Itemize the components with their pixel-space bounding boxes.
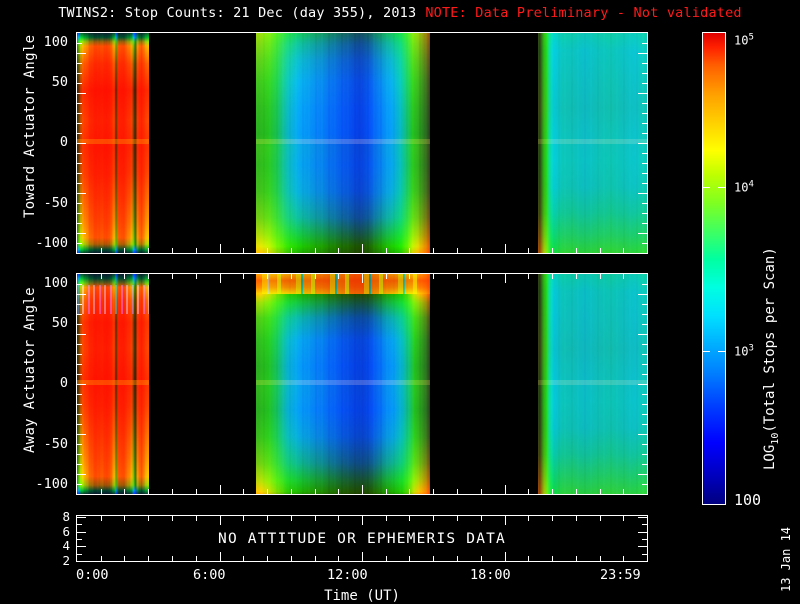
eph-ytick-minor-r xyxy=(642,539,647,540)
eph-ylabel-4: 4 xyxy=(40,538,70,553)
toward-xtick xyxy=(576,248,577,253)
eph-ytick-minor xyxy=(77,539,82,540)
toward-xtick xyxy=(291,248,292,253)
toward-ytick-minor-r xyxy=(642,83,647,84)
toward-ylabel-100: 100 xyxy=(8,34,68,50)
away-data-block-3 xyxy=(538,274,648,494)
eph-xtick-12 xyxy=(362,552,363,561)
toward-ylabel-neg100: -100 xyxy=(8,235,68,251)
xtick-label-0: 0:00 xyxy=(76,567,109,583)
toward-ytick-100-right xyxy=(638,53,647,54)
toward-ytick-minor-r xyxy=(642,63,647,64)
toward-ytick-minor xyxy=(77,63,82,64)
away-ytick-minor xyxy=(77,414,82,415)
eph-ytick-8-right xyxy=(638,517,647,518)
cb-1e5-base: 10 xyxy=(734,34,748,48)
away-xtick-top xyxy=(315,274,316,279)
eph-xtick xyxy=(101,556,102,561)
away-ytick-minor-r xyxy=(642,394,647,395)
toward-ytick-minor xyxy=(77,203,82,204)
eph-xtick xyxy=(196,556,197,561)
away-xtick xyxy=(433,489,434,494)
cb-1e3-base: 10 xyxy=(734,345,748,359)
away-xtick xyxy=(457,489,458,494)
eph-xtick-top xyxy=(148,516,149,521)
colorbar-title: LOG10(Total Stops per Scan) xyxy=(762,247,781,470)
away-xtick-top xyxy=(433,274,434,279)
away-data-block-2 xyxy=(256,274,430,494)
title-warning-text: NOTE: Data Preliminary - Not validated xyxy=(425,5,741,21)
away-ytick-minor xyxy=(77,314,82,315)
away-ytick-minor xyxy=(77,454,82,455)
toward-data-block-1 xyxy=(77,33,149,253)
away-xtick-top xyxy=(267,274,268,279)
eph-xtick-top-6 xyxy=(220,516,221,525)
toward-ytick-minor xyxy=(77,213,82,214)
toward-ytick-minor xyxy=(77,173,82,174)
colorbar-label-1e4: 104 xyxy=(734,180,754,195)
cb-1e4-exp: 4 xyxy=(748,180,753,190)
toward-xtick xyxy=(552,248,553,253)
eph-xtick xyxy=(243,556,244,561)
away-ylabel-50: 50 xyxy=(8,315,68,331)
away-ytick-neg100-right xyxy=(638,474,647,475)
toward-ytick-minor-r xyxy=(642,113,647,114)
away-ytick-50 xyxy=(77,334,86,335)
eph-xtick xyxy=(267,556,268,561)
away-ytick-minor-r xyxy=(642,404,647,405)
toward-ytick-minor-r xyxy=(642,213,647,214)
away-xtick-top xyxy=(101,274,102,279)
toward-xtick xyxy=(267,248,268,253)
toward-ytick-minor xyxy=(77,123,82,124)
toward-ytick-minor xyxy=(77,153,82,154)
eph-xtick xyxy=(481,556,482,561)
toward-xtick xyxy=(481,248,482,253)
eph-xtick xyxy=(148,556,149,561)
eph-xtick xyxy=(528,556,529,561)
eph-xtick-6 xyxy=(220,552,221,561)
away-ytick-minor xyxy=(77,404,82,405)
eph-ytick-4 xyxy=(77,546,86,547)
away-ytick-minor xyxy=(77,374,82,375)
away-xtick xyxy=(315,489,316,494)
eph-xtick xyxy=(576,556,577,561)
away-xtick-top xyxy=(600,274,601,279)
away-ytick-0-right xyxy=(638,384,647,385)
away-ytick-minor-r xyxy=(642,374,647,375)
xaxis-title: Time (UT) xyxy=(76,588,648,604)
eph-xtick xyxy=(457,556,458,561)
toward-data-block-2 xyxy=(256,33,430,253)
eph-xtick-top-12 xyxy=(362,516,363,525)
away-xtick xyxy=(481,489,482,494)
eph-xtick xyxy=(172,556,173,561)
eph-xtick xyxy=(315,556,316,561)
cb-title-base: LOG xyxy=(762,445,778,470)
cb-100-base: 100 xyxy=(734,491,761,509)
away-ytick-minor xyxy=(77,394,82,395)
away-ylabel-neg50: -50 xyxy=(8,436,68,452)
eph-xtick-top xyxy=(552,516,553,521)
away-ytick-0 xyxy=(77,384,86,385)
eph-xtick-top xyxy=(196,516,197,521)
colorbar-label-1e3: 103 xyxy=(734,344,754,359)
cb-1e3-exp: 3 xyxy=(748,344,753,354)
toward-xtick xyxy=(528,248,529,253)
away-xtick-top xyxy=(196,274,197,279)
away-xtick-top xyxy=(623,274,624,279)
eph-ytick-2-right xyxy=(638,561,647,562)
colorbar-label-100: 100 xyxy=(734,491,761,509)
toward-ytick-minor-r xyxy=(642,153,647,154)
away-ytick-minor xyxy=(77,464,82,465)
toward-ytick-minor-r xyxy=(642,43,647,44)
eph-xtick-top xyxy=(481,516,482,521)
eph-ytick-minor-r xyxy=(642,524,647,525)
toward-xtick xyxy=(409,248,410,253)
creation-date-stamp: 13 Jan 14 xyxy=(779,527,793,592)
eph-xtick-top xyxy=(315,516,316,521)
toward-ytick-minor xyxy=(77,113,82,114)
eph-ytick-8 xyxy=(77,517,86,518)
away-xtick-top xyxy=(528,274,529,279)
away-xtick xyxy=(196,489,197,494)
toward-ytick-minor-r xyxy=(642,223,647,224)
away-xtick xyxy=(386,489,387,494)
away-xtick xyxy=(600,489,601,494)
eph-xtick-top xyxy=(386,516,387,521)
away-ytick-minor-r xyxy=(642,344,647,345)
away-xtick-top xyxy=(172,274,173,279)
toward-xtick-18 xyxy=(505,244,506,253)
xtick-label-18: 18:00 xyxy=(470,567,511,583)
away-xtick-top xyxy=(576,274,577,279)
toward-ytick-minor xyxy=(77,223,82,224)
eph-xtick-top-18 xyxy=(505,516,506,525)
eph-ytick-minor xyxy=(77,554,82,555)
toward-ytick-50-right xyxy=(638,93,647,94)
away-xtick-top xyxy=(291,274,292,279)
toward-ytick-50 xyxy=(77,93,86,94)
toward-ytick-minor-r xyxy=(642,173,647,174)
toward-ytick-100 xyxy=(77,53,86,54)
toward-ytick-0 xyxy=(77,143,86,144)
toward-ytick-0-right xyxy=(638,143,647,144)
toward-xtick xyxy=(172,248,173,253)
away-ytick-50-right xyxy=(638,334,647,335)
toward-ytick-minor-r xyxy=(642,123,647,124)
eph-xtick xyxy=(124,556,125,561)
eph-xtick-top xyxy=(600,516,601,521)
away-ylabel-100: 100 xyxy=(8,275,68,291)
away-ytick-neg50 xyxy=(77,434,86,435)
plot-title: TWINS2: Stop Counts: 21 Dec (day 355), 2… xyxy=(0,5,800,25)
eph-xtick-top xyxy=(101,516,102,521)
away-ytick-minor xyxy=(77,364,82,365)
away-xtick-top xyxy=(124,274,125,279)
eph-ylabel-2: 2 xyxy=(40,553,70,568)
ephemeris-inner: NO ATTITUDE OR EPHEMERIS DATA xyxy=(77,516,647,561)
away-xtick-18 xyxy=(505,485,506,494)
toward-xtick xyxy=(101,248,102,253)
eph-xtick xyxy=(623,556,624,561)
away-ytick-minor xyxy=(77,304,82,305)
away-ytick-minor-r xyxy=(642,444,647,445)
away-xtick xyxy=(338,489,339,494)
eph-xtick xyxy=(338,556,339,561)
xtick-label-12: 12:00 xyxy=(327,567,368,583)
plot-canvas: TWINS2: Stop Counts: 21 Dec (day 355), 2… xyxy=(0,0,800,600)
away-xtick xyxy=(623,489,624,494)
panel-ephemeris: NO ATTITUDE OR EPHEMERIS DATA xyxy=(76,515,648,562)
toward-xtick xyxy=(623,248,624,253)
eph-xtick-top xyxy=(124,516,125,521)
eph-ytick-6 xyxy=(77,532,86,533)
toward-ylabel-neg50: -50 xyxy=(8,195,68,211)
away-xtick-12 xyxy=(362,485,363,494)
away-ytick-minor-r xyxy=(642,304,647,305)
cb-title-sub: 10 xyxy=(770,433,781,445)
away-xtick xyxy=(243,489,244,494)
away-ytick-minor xyxy=(77,344,82,345)
eph-xtick-18 xyxy=(505,552,506,561)
toward-ylabel-0: 0 xyxy=(8,134,68,150)
away-ytick-minor-r xyxy=(642,484,647,485)
away-ytick-minor-r xyxy=(642,464,647,465)
away-ytick-minor xyxy=(77,444,82,445)
eph-xtick-top xyxy=(267,516,268,521)
away-xtick xyxy=(409,489,410,494)
away-xtick xyxy=(148,489,149,494)
toward-ytick-minor-r xyxy=(642,203,647,204)
away-xtick-6 xyxy=(220,485,221,494)
away-xtick-top-12 xyxy=(362,274,363,283)
toward-ytick-minor xyxy=(77,43,82,44)
toward-spectrogram xyxy=(77,33,647,253)
eph-xtick xyxy=(552,556,553,561)
toward-ytick-minor-r xyxy=(642,133,647,134)
away-xtick xyxy=(576,489,577,494)
away-ytick-minor-r xyxy=(642,414,647,415)
away-xtick-top xyxy=(409,274,410,279)
away-ylabel-0: 0 xyxy=(8,375,68,391)
eph-xtick-top xyxy=(338,516,339,521)
eph-ytick-minor-r xyxy=(642,554,647,555)
toward-xtick xyxy=(196,248,197,253)
eph-xtick xyxy=(600,556,601,561)
away-ytick-minor-r xyxy=(642,424,647,425)
away-ytick-minor-r xyxy=(642,364,647,365)
colorbar-tick-1e3 xyxy=(702,351,710,352)
toward-ytick-minor xyxy=(77,243,82,244)
away-xtick-top xyxy=(386,274,387,279)
toward-ylabel-50: 50 xyxy=(8,74,68,90)
away-axis-title: Away Actuator Angle xyxy=(22,287,38,453)
away-xtick-top-18 xyxy=(505,274,506,283)
away-spectrogram xyxy=(77,274,647,494)
away-ytick-minor-r xyxy=(642,284,647,285)
away-xtick xyxy=(101,489,102,494)
eph-xtick xyxy=(291,556,292,561)
eph-ylabel-8: 8 xyxy=(40,509,70,524)
colorbar-tick-1e3-right xyxy=(718,351,726,352)
away-ytick-minor-r xyxy=(642,454,647,455)
panel-away-actuator xyxy=(76,273,648,495)
toward-xtick xyxy=(457,248,458,253)
eph-ytick-2 xyxy=(77,561,86,562)
away-ytick-minor xyxy=(77,484,82,485)
away-xtick-top xyxy=(552,274,553,279)
away-ytick-100-right xyxy=(638,294,647,295)
toward-xtick xyxy=(338,248,339,253)
away-ytick-minor-r xyxy=(642,354,647,355)
xtick-label-6: 6:00 xyxy=(193,567,226,583)
away-data-block-1 xyxy=(77,274,149,494)
toward-ytick-minor-r xyxy=(642,73,647,74)
colorbar-tick-1e4 xyxy=(702,187,710,188)
away-xtick-top xyxy=(457,274,458,279)
eph-xtick-top xyxy=(172,516,173,521)
toward-ytick-minor xyxy=(77,83,82,84)
toward-ytick-neg50 xyxy=(77,193,86,194)
toward-ytick-minor xyxy=(77,73,82,74)
away-ytick-neg50-right xyxy=(638,434,647,435)
eph-xtick-top xyxy=(623,516,624,521)
away-xtick xyxy=(528,489,529,494)
toward-xtick-6 xyxy=(220,244,221,253)
away-ytick-neg100 xyxy=(77,474,86,475)
colorbar: 105 104 103 100 xyxy=(702,32,726,505)
eph-xtick xyxy=(386,556,387,561)
eph-xtick xyxy=(409,556,410,561)
away-xtick-top xyxy=(243,274,244,279)
toward-xtick xyxy=(600,248,601,253)
toward-ytick-neg100-right xyxy=(638,233,647,234)
toward-ytick-minor-r xyxy=(642,243,647,244)
title-main-text: TWINS2: Stop Counts: 21 Dec (day 355), 2… xyxy=(58,5,416,21)
away-xtick-top xyxy=(481,274,482,279)
toward-xtick xyxy=(386,248,387,253)
eph-ytick-6-right xyxy=(638,532,647,533)
away-xtick-top-6 xyxy=(220,274,221,283)
toward-ytick-minor-r xyxy=(642,183,647,184)
colorbar-label-1e5: 105 xyxy=(734,33,754,48)
eph-xtick-top xyxy=(291,516,292,521)
eph-ytick-4-right xyxy=(638,546,647,547)
toward-ytick-minor xyxy=(77,163,82,164)
eph-xtick-top xyxy=(433,516,434,521)
away-xtick-top xyxy=(338,274,339,279)
toward-xtick xyxy=(243,248,244,253)
away-xtick xyxy=(552,489,553,494)
toward-xtick xyxy=(124,248,125,253)
toward-ytick-minor-r xyxy=(642,163,647,164)
away-ytick-minor xyxy=(77,284,82,285)
away-ytick-minor xyxy=(77,354,82,355)
away-xtick xyxy=(124,489,125,494)
cb-title-rest: (Total Stops per Scan) xyxy=(762,247,778,432)
toward-xtick-12 xyxy=(362,244,363,253)
away-ytick-100 xyxy=(77,294,86,295)
away-ytick-minor-r xyxy=(642,324,647,325)
eph-xtick xyxy=(433,556,434,561)
away-ytick-minor xyxy=(77,324,82,325)
eph-xtick-top xyxy=(457,516,458,521)
toward-data-block-3 xyxy=(538,33,648,253)
eph-xtick-top xyxy=(528,516,529,521)
toward-ytick-minor-r xyxy=(642,103,647,104)
xtick-label-2359: 23:59 xyxy=(600,567,641,583)
away-xtick xyxy=(291,489,292,494)
cb-1e5-exp: 5 xyxy=(748,33,753,43)
toward-ytick-minor xyxy=(77,133,82,134)
eph-xtick-top xyxy=(576,516,577,521)
away-xtick xyxy=(172,489,173,494)
toward-ytick-minor xyxy=(77,103,82,104)
toward-ytick-minor xyxy=(77,183,82,184)
cb-1e4-base: 10 xyxy=(734,181,748,195)
eph-xtick-top xyxy=(243,516,244,521)
toward-xtick xyxy=(315,248,316,253)
away-ylabel-neg100: -100 xyxy=(8,476,68,492)
toward-ytick-neg50-right xyxy=(638,193,647,194)
toward-xtick xyxy=(433,248,434,253)
colorbar-gradient xyxy=(702,32,726,505)
eph-ytick-minor xyxy=(77,524,82,525)
away-xtick xyxy=(267,489,268,494)
away-xtick-top xyxy=(148,274,149,279)
toward-xtick xyxy=(148,248,149,253)
eph-ylabel-6: 6 xyxy=(40,524,70,539)
colorbar-tick-1e4-right xyxy=(718,187,726,188)
toward-axis-title: Toward Actuator Angle xyxy=(22,35,38,218)
away-ytick-minor xyxy=(77,424,82,425)
eph-xtick-top xyxy=(409,516,410,521)
away-ytick-minor-r xyxy=(642,314,647,315)
panel-toward-actuator xyxy=(76,32,648,254)
toward-ytick-neg100 xyxy=(77,233,86,234)
